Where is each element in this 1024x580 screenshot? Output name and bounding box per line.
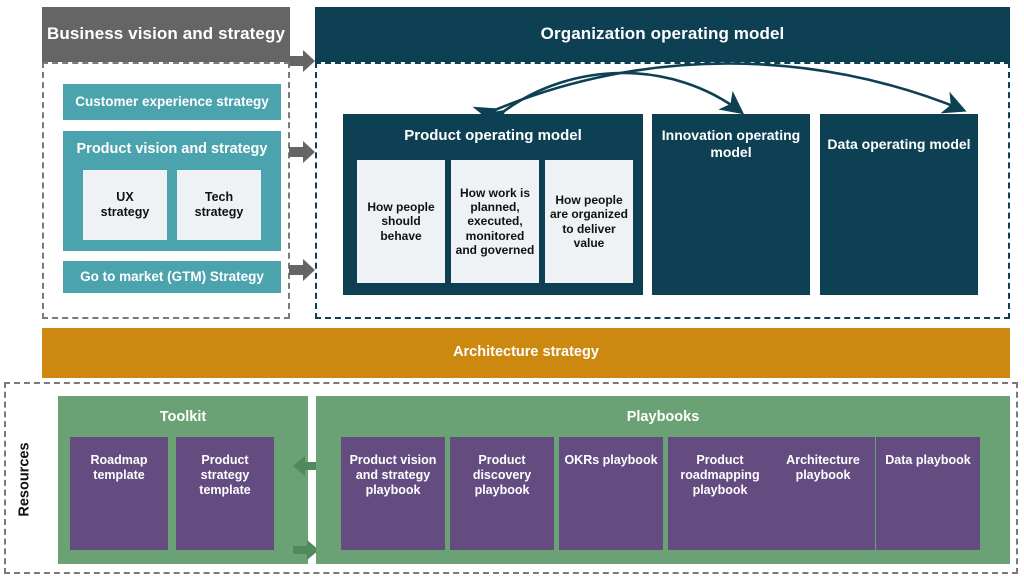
tech-strategy-label: Tech strategy: [195, 190, 244, 220]
operating-model-relationship-arrows: [343, 62, 1010, 117]
product-vision-strategy-label: Product vision and strategy: [77, 141, 268, 158]
playbook-label: Product discovery playbook: [453, 453, 551, 497]
playbook-product-discovery[interactable]: Product discovery playbook: [450, 437, 554, 550]
toolkit-title: Toolkit: [58, 406, 308, 430]
resources-section-label: Resources: [10, 400, 40, 560]
toolkit-title-label: Toolkit: [160, 409, 206, 426]
playbook-label: Product roadmapping playbook: [671, 453, 769, 497]
ux-strategy-label: UX strategy: [101, 190, 150, 220]
right-arrow-icon: [289, 259, 315, 281]
product-aspect-organization: How people are organized to deliver valu…: [545, 160, 633, 283]
innovation-operating-model-label: Innovation operating model: [652, 127, 810, 160]
playbook-label: Data playbook: [885, 453, 970, 468]
connector-arrow-top: [289, 50, 315, 77]
right-arrow-icon: [289, 50, 315, 72]
resources-section-text: Resources: [16, 443, 33, 517]
product-operating-model-label: Product operating model: [404, 127, 582, 145]
playbooks-title: Playbooks: [316, 406, 1010, 430]
innovation-operating-model-title: Innovation operating model: [652, 124, 810, 164]
playbook-okrs[interactable]: OKRs playbook: [559, 437, 663, 550]
playbook-label: Product vision and strategy playbook: [344, 453, 442, 497]
organization-operating-model-header-label: Organization operating model: [541, 24, 785, 44]
organization-operating-model-header: Organization operating model: [315, 7, 1010, 62]
product-vision-strategy-title: Product vision and strategy: [63, 136, 281, 164]
playbooks-title-label: Playbooks: [627, 409, 700, 426]
architecture-strategy-band: Architecture strategy: [42, 328, 1010, 378]
data-operating-model-label: Data operating model: [827, 136, 970, 153]
product-aspect-organization-label: How people are organized to deliver valu…: [549, 193, 629, 250]
business-vision-header-label: Business vision and strategy: [47, 24, 285, 44]
product-aspect-work-governance-label: How work is planned, executed, monitored…: [455, 186, 535, 257]
playbook-data[interactable]: Data playbook: [876, 437, 980, 550]
playbook-label: Architecture playbook: [774, 453, 872, 483]
customer-experience-strategy-label: Customer experience strategy: [75, 94, 269, 110]
playbook-product-vision-strategy[interactable]: Product vision and strategy playbook: [341, 437, 445, 550]
playbook-architecture[interactable]: Architecture playbook: [771, 437, 875, 550]
toolkit-item-label: Product strategy template: [179, 453, 271, 497]
playbook-product-roadmapping[interactable]: Product roadmapping playbook: [668, 437, 772, 550]
data-operating-model-title: Data operating model: [820, 124, 978, 164]
toolkit-item-product-strategy-template[interactable]: Product strategy template: [176, 437, 274, 550]
connector-arrow-middle: [289, 141, 315, 168]
product-aspect-behavior-label: How people should behave: [361, 200, 441, 242]
toolkit-item-label: Roadmap template: [73, 453, 165, 483]
go-to-market-strategy-label: Go to market (GTM) Strategy: [80, 269, 264, 285]
playbook-label: OKRs playbook: [564, 453, 657, 468]
customer-experience-strategy-box: Customer experience strategy: [63, 84, 281, 120]
product-operating-model-title: Product operating model: [343, 124, 643, 148]
toolkit-item-roadmap-template[interactable]: Roadmap template: [70, 437, 168, 550]
tech-strategy-box: Tech strategy: [177, 170, 261, 240]
product-aspect-work-governance: How work is planned, executed, monitored…: [451, 160, 539, 283]
right-arrow-icon: [289, 141, 315, 163]
ux-strategy-box: UX strategy: [83, 170, 167, 240]
business-vision-header: Business vision and strategy: [42, 7, 290, 62]
go-to-market-strategy-box: Go to market (GTM) Strategy: [63, 261, 281, 293]
product-aspect-behavior: How people should behave: [357, 160, 445, 283]
architecture-strategy-label: Architecture strategy: [453, 344, 599, 361]
connector-arrow-bottom: [289, 259, 315, 286]
